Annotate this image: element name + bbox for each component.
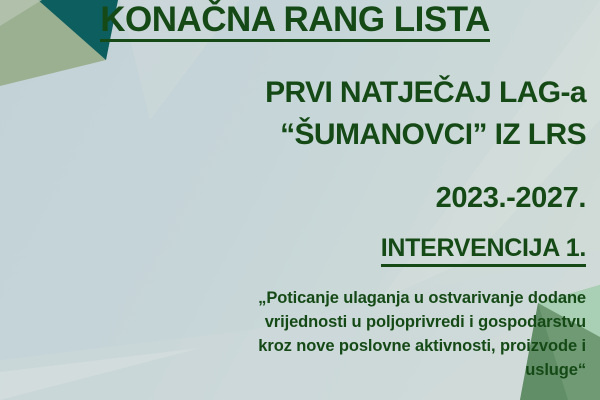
page-title: KONAČNA RANG LISTA: [0, 2, 590, 42]
intervention-heading-text: INTERVENCIJA 1.: [381, 234, 586, 267]
period-years: 2023.-2027.: [0, 182, 586, 215]
slide-canvas: KONAČNA RANG LISTA PRVI NATJEČAJ LAG-a “…: [0, 0, 600, 400]
body-paragraph: „Poticanje ulaganja u ostvarivanje dodan…: [0, 286, 586, 382]
subtitle-line-2: “ŠUMANOVCI” IZ LRS: [0, 118, 586, 152]
page-title-text: KONAČNA RANG LISTA: [100, 2, 490, 42]
slide-content: KONAČNA RANG LISTA PRVI NATJEČAJ LAG-a “…: [0, 0, 600, 400]
subtitle-line-1: PRVI NATJEČAJ LAG-a: [0, 76, 586, 110]
intervention-heading: INTERVENCIJA 1.: [0, 234, 586, 267]
